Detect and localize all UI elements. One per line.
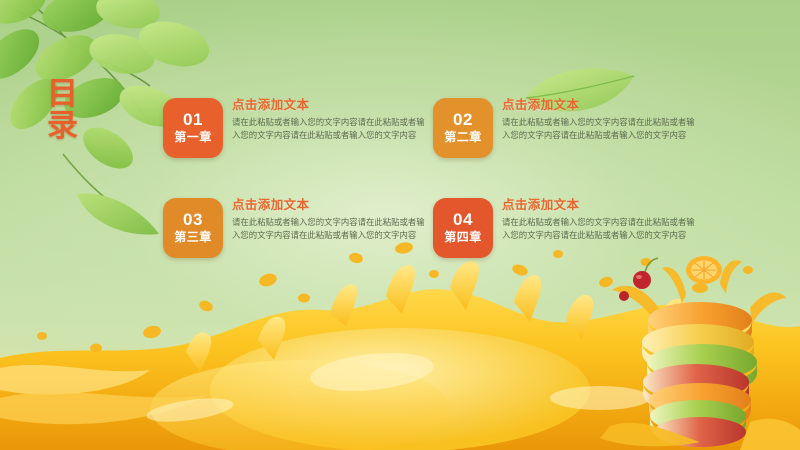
entry-body[interactable]: 请在此粘贴或者输入您的文字内容请在此粘贴或者输入您的文字内容请在此粘贴或者输入您… <box>502 216 696 243</box>
entry-text-02: 点击添加文本 请在此粘贴或者输入您的文字内容请在此粘贴或者输入您的文字内容请在此… <box>502 94 696 143</box>
entry-text-03: 点击添加文本 请在此粘贴或者输入您的文字内容请在此粘贴或者输入您的文字内容请在此… <box>232 194 426 243</box>
entry-body[interactable]: 请在此粘贴或者输入您的文字内容请在此粘贴或者输入您的文字内容请在此粘贴或者输入您… <box>502 116 696 143</box>
entry-heading[interactable]: 点击添加文本 <box>232 198 426 213</box>
entry-heading[interactable]: 点击添加文本 <box>232 98 426 113</box>
title-char-1: 目 <box>34 78 92 110</box>
entry-body[interactable]: 请在此粘贴或者输入您的文字内容请在此粘贴或者输入您的文字内容请在此粘贴或者输入您… <box>232 116 426 143</box>
chapter-number: 03 <box>183 211 203 230</box>
chapter-label: 第四章 <box>444 229 482 245</box>
page-title: 目 录 <box>34 78 92 142</box>
title-char-2: 录 <box>34 110 92 142</box>
entry-heading[interactable]: 点击添加文本 <box>502 198 696 213</box>
chapter-label: 第二章 <box>444 129 482 145</box>
chapter-number: 04 <box>453 211 473 230</box>
chapter-label: 第一章 <box>174 129 212 145</box>
chapter-badge-04[interactable]: 04 第四章 <box>433 198 493 258</box>
toc-entry-02[interactable]: 02 第二章 点击添加文本 请在此粘贴或者输入您的文字内容请在此粘贴或者输入您的… <box>433 94 703 194</box>
entry-text-04: 点击添加文本 请在此粘贴或者输入您的文字内容请在此粘贴或者输入您的文字内容请在此… <box>502 194 696 243</box>
toc-entry-03[interactable]: 03 第三章 点击添加文本 请在此粘贴或者输入您的文字内容请在此粘贴或者输入您的… <box>163 194 433 294</box>
entry-text-01: 点击添加文本 请在此粘贴或者输入您的文字内容请在此粘贴或者输入您的文字内容请在此… <box>232 94 426 143</box>
entry-heading[interactable]: 点击添加文本 <box>502 98 696 113</box>
toc-entry-list: 01 第一章 点击添加文本 请在此粘贴或者输入您的文字内容请在此粘贴或者输入您的… <box>163 94 783 284</box>
toc-entry-04[interactable]: 04 第四章 点击添加文本 请在此粘贴或者输入您的文字内容请在此粘贴或者输入您的… <box>433 194 703 294</box>
chapter-badge-02[interactable]: 02 第二章 <box>433 98 493 158</box>
toc-entry-01[interactable]: 01 第一章 点击添加文本 请在此粘贴或者输入您的文字内容请在此粘贴或者输入您的… <box>163 94 433 194</box>
slide-canvas: 目 录 01 第一章 点击添加文本 请在此粘贴或者输入您的文字内容请在此粘贴或者… <box>0 0 800 450</box>
chapter-number: 01 <box>183 111 203 130</box>
entry-body[interactable]: 请在此粘贴或者输入您的文字内容请在此粘贴或者输入您的文字内容请在此粘贴或者输入您… <box>232 216 426 243</box>
chapter-label: 第三章 <box>174 229 212 245</box>
chapter-number: 02 <box>453 111 473 130</box>
chapter-badge-03[interactable]: 03 第三章 <box>163 198 223 258</box>
chapter-badge-01[interactable]: 01 第一章 <box>163 98 223 158</box>
